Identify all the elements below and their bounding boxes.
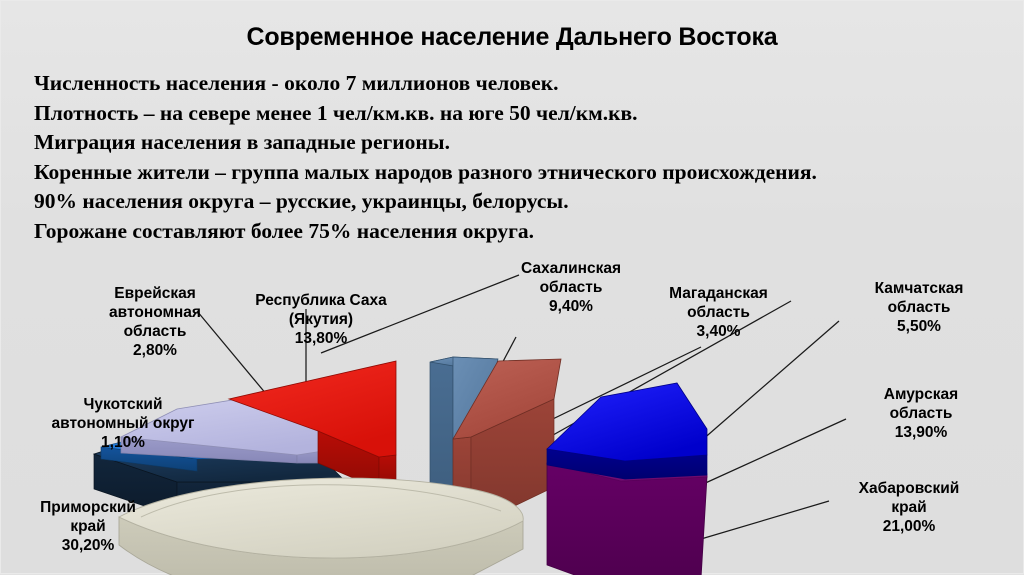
body-line: Миграция населения в западные регионы.	[34, 128, 1003, 158]
callout-line: Амурская	[856, 385, 986, 404]
callout-amur: Амурская область 13,90%	[856, 385, 986, 442]
callout-sakhalin: Сахалинская область 9,40%	[501, 259, 641, 316]
callout-value: 3,40%	[646, 322, 791, 341]
callout-line: область	[85, 322, 225, 341]
callout-kamchatka: Камчатская область 5,50%	[849, 279, 989, 336]
body-line: 90% населения округа – русские, украинцы…	[34, 187, 1003, 217]
callout-line: область	[501, 278, 641, 297]
callout-line: Магаданская	[646, 284, 791, 303]
callout-line: область	[849, 298, 989, 317]
leader-line-khabarovsk	[701, 501, 829, 539]
callout-value: 13,80%	[231, 329, 411, 348]
body-line: Плотность – на севере менее 1 чел/км.кв.…	[34, 99, 1003, 129]
callout-line: Приморский	[13, 498, 163, 517]
callout-value: 1,10%	[11, 433, 235, 452]
callout-line: Хабаровский	[829, 479, 989, 498]
callout-value: 13,90%	[856, 423, 986, 442]
callout-primorsky: Приморский край 30,20%	[13, 498, 163, 555]
callout-line: (Якутия)	[231, 310, 411, 329]
leader-line-amur	[701, 419, 846, 485]
callout-line: Чукотский	[11, 395, 235, 414]
callout-line: область	[856, 404, 986, 423]
callout-line: Камчатская	[849, 279, 989, 298]
callout-value: 9,40%	[501, 297, 641, 316]
callout-line: Республика Саха	[231, 291, 411, 310]
callout-chukotka: Чукотский автономный округ 1,10%	[11, 395, 235, 452]
body-line: Коренные жители – группа малых народов р…	[34, 158, 1003, 188]
callout-line: автономная	[85, 303, 225, 322]
callout-value: 5,50%	[849, 317, 989, 336]
callout-line: область	[646, 303, 791, 322]
callout-magadan: Магаданская область 3,40%	[646, 284, 791, 341]
callout-sakha: Республика Саха (Якутия) 13,80%	[231, 291, 411, 348]
callout-jewish-ao: Еврейская автономная область 2,80%	[85, 284, 225, 360]
slide-canvas: Современное население Дальнего Востока Ч…	[0, 0, 1024, 574]
callout-value: 2,80%	[85, 341, 225, 360]
callout-value: 30,20%	[13, 536, 163, 555]
callout-line: Еврейская	[85, 284, 225, 303]
body-text-block: Численность населения - около 7 миллионо…	[34, 69, 1003, 246]
body-line: Горожане составляют более 75% населения …	[34, 217, 1003, 247]
body-line: Численность населения - около 7 миллионо…	[34, 69, 1003, 99]
pie-slice-amur	[547, 383, 707, 479]
callout-line: автономный округ	[11, 414, 235, 433]
callout-line: край	[13, 517, 163, 536]
callout-value: 21,00%	[829, 517, 989, 536]
callout-khabarovsk: Хабаровский край 21,00%	[829, 479, 989, 536]
callout-line: Сахалинская	[501, 259, 641, 278]
callout-line: край	[829, 498, 989, 517]
page-title: Современное население Дальнего Востока	[1, 23, 1023, 52]
